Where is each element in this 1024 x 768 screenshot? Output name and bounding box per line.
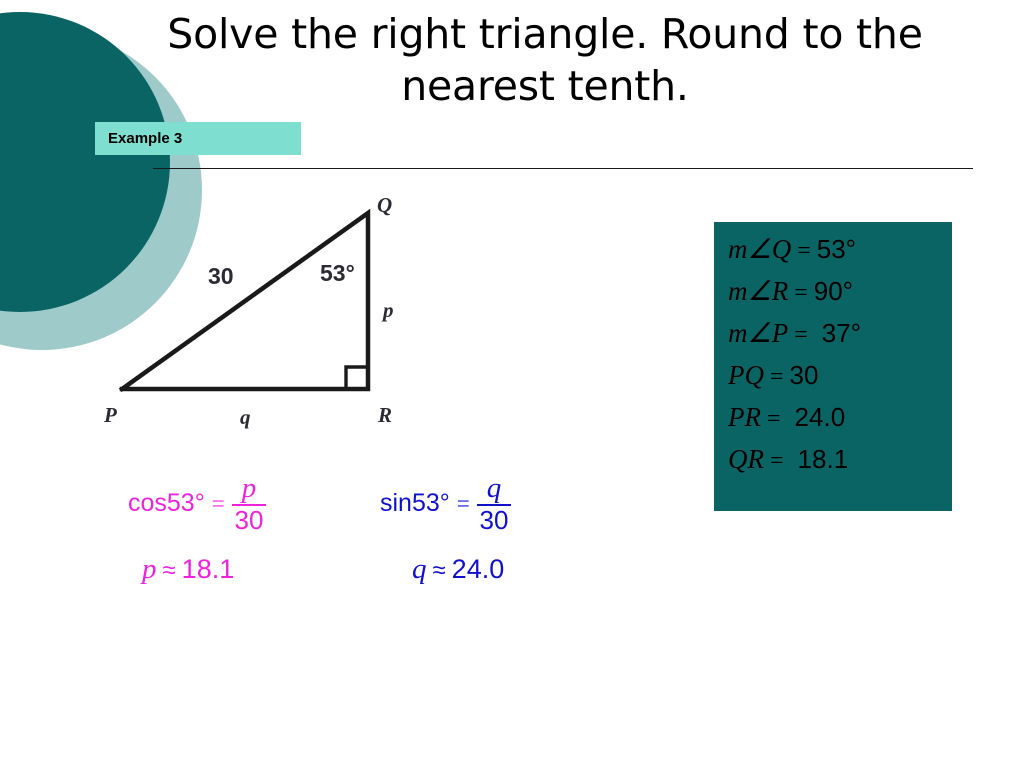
page-title: Solve the right triangle. Round to the n…	[150, 8, 940, 112]
answer-value: 30	[790, 360, 819, 391]
answer-equals: =	[764, 364, 790, 391]
answer-row: PQ = 30	[728, 360, 952, 402]
example-badge-label: Example 3	[108, 130, 182, 147]
cos-result: p ≈ 18.1	[142, 553, 266, 586]
sin-result-value: 24.0	[452, 554, 505, 585]
answer-row: m∠Q = 53°	[728, 234, 952, 276]
cos-equation: cos 53° = p 30	[128, 473, 266, 535]
answer-value: 24.0	[787, 402, 846, 433]
vertex-label-q: Q	[377, 193, 392, 218]
triangle-outline	[122, 213, 368, 389]
answer-row: QR = 18.1	[728, 444, 952, 486]
answer-value: 37°	[814, 318, 861, 349]
answer-label: PR	[728, 402, 761, 433]
answers-panel: m∠Q = 53° m∠R = 90° m∠P = 37° PQ = 30 PR…	[714, 222, 952, 511]
answer-label: m∠P	[728, 318, 788, 349]
slide-canvas: Solve the right triangle. Round to the n…	[0, 0, 1024, 768]
side-label-q: q	[240, 405, 251, 430]
cos-result-value: 18.1	[182, 554, 235, 585]
answer-value: 90°	[814, 276, 853, 307]
answer-label: PQ	[728, 360, 764, 391]
sin-fraction: q 30	[477, 473, 512, 535]
angle-measure-label: 53°	[320, 260, 355, 287]
answer-equals: =	[791, 238, 817, 265]
answer-row: PR = 24.0	[728, 402, 952, 444]
side-label-p: p	[383, 298, 394, 323]
vertex-label-r: R	[378, 403, 392, 428]
sin-angle-label: 53°	[412, 489, 450, 518]
example-badge: Example 3	[95, 122, 301, 155]
sin-equals-sign: =	[450, 491, 477, 517]
sin-result: q ≈ 24.0	[412, 553, 511, 586]
sin-equation: sin 53° = q 30	[380, 473, 511, 535]
triangle-figure: P Q R 30 53° p q	[90, 185, 440, 435]
vertex-label-p: P	[104, 403, 117, 428]
sin-function-label: sin	[380, 489, 412, 518]
sin-fraction-numerator: q	[477, 473, 512, 503]
sin-approx-sign: ≈	[427, 557, 452, 585]
sin-work-block: sin 53° = q 30 q ≈ 24.0	[380, 473, 511, 586]
answer-label: QR	[728, 444, 764, 475]
answer-equals: =	[788, 280, 814, 307]
answer-equals: =	[761, 406, 787, 433]
right-angle-icon	[346, 367, 368, 389]
answer-value: 18.1	[790, 444, 849, 475]
cos-result-variable: p	[142, 553, 157, 586]
answer-equals: =	[764, 448, 790, 475]
answer-equals: =	[788, 322, 814, 349]
hypotenuse-length-label: 30	[208, 263, 234, 290]
cos-approx-sign: ≈	[157, 557, 182, 585]
answer-row: m∠P = 37°	[728, 318, 952, 360]
divider-rule	[153, 168, 973, 169]
sin-fraction-denominator: 30	[480, 507, 509, 534]
cos-fraction-denominator: 30	[234, 507, 263, 534]
cos-function-label: cos	[128, 489, 167, 518]
cos-fraction-numerator: p	[232, 473, 267, 503]
answer-label: m∠R	[728, 276, 788, 307]
cos-fraction: p 30	[232, 473, 267, 535]
answer-value: 53°	[817, 234, 856, 265]
answer-label: m∠Q	[728, 234, 791, 265]
answer-row: m∠R = 90°	[728, 276, 952, 318]
sin-result-variable: q	[412, 553, 427, 586]
cos-equals-sign: =	[205, 491, 232, 517]
cos-angle-label: 53°	[167, 489, 205, 518]
cos-work-block: cos 53° = p 30 p ≈ 18.1	[128, 473, 266, 586]
